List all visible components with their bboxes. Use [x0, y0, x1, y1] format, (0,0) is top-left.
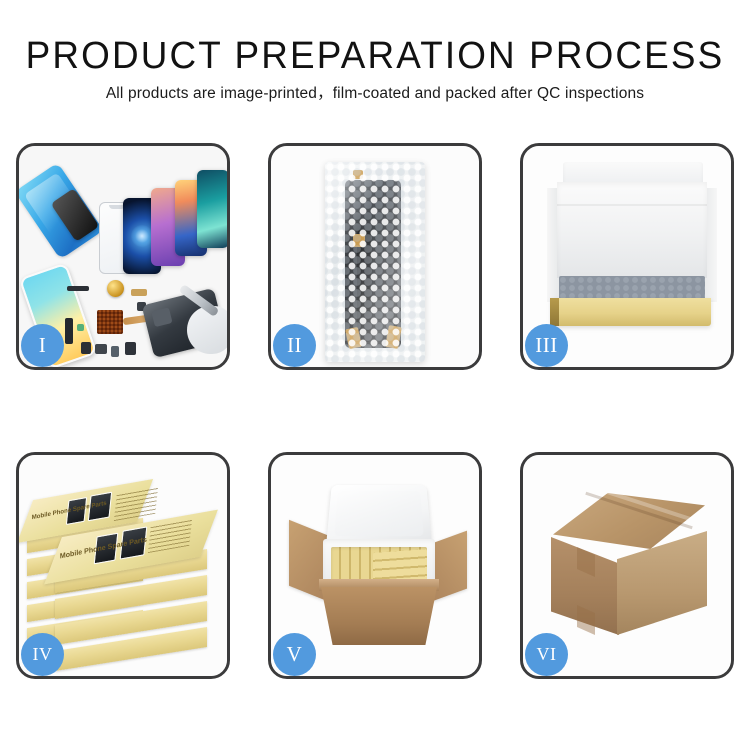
step-badge-5: V	[273, 633, 316, 676]
step-badge-3: III	[525, 324, 568, 367]
step-badge-1: I	[21, 324, 64, 367]
phone-display-teal-icon	[197, 170, 227, 248]
foam-cooler-lid-icon	[326, 485, 432, 546]
step-badge-6: VI	[525, 633, 568, 676]
header: PRODUCT PREPARATION PROCESS All products…	[0, 34, 750, 104]
component-chip-icon	[81, 342, 91, 354]
bubble-wrap-package	[325, 162, 425, 362]
step-panel-2: II	[268, 143, 482, 370]
process-steps-grid: I II	[16, 143, 734, 673]
gold-component-icon	[107, 280, 124, 297]
step-badge-4: IV	[21, 633, 64, 676]
product-preparation-infographic: PRODUCT PREPARATION PROCESS All products…	[0, 0, 750, 750]
hand-icon	[187, 306, 227, 354]
step-panel-1: I	[16, 143, 230, 370]
foam-padding-icon	[557, 182, 707, 278]
component-chip-icon	[65, 318, 73, 344]
copper-grid-chip-icon	[97, 310, 123, 334]
component-chip-icon	[95, 344, 107, 354]
component-chip-icon	[67, 286, 89, 291]
page-title: PRODUCT PREPARATION PROCESS	[11, 34, 739, 78]
component-chip-icon	[77, 324, 84, 331]
step-badge-2: II	[273, 324, 316, 367]
step-panel-3: III	[520, 143, 734, 370]
yellow-box-front-icon	[551, 298, 711, 326]
step-panel-4: Mobile Phone Spare Parts Mobile Phone Sp…	[16, 452, 230, 679]
carton-body-icon	[321, 587, 437, 645]
page-subtitle: All products are image-printed，film-coat…	[0, 84, 750, 104]
plastic-sheen	[325, 162, 425, 362]
step-panel-6: VI	[520, 452, 734, 679]
component-chip-icon	[131, 289, 147, 296]
step-panel-5: V	[268, 452, 482, 679]
component-chip-icon	[125, 342, 136, 355]
component-chip-icon	[111, 346, 119, 357]
